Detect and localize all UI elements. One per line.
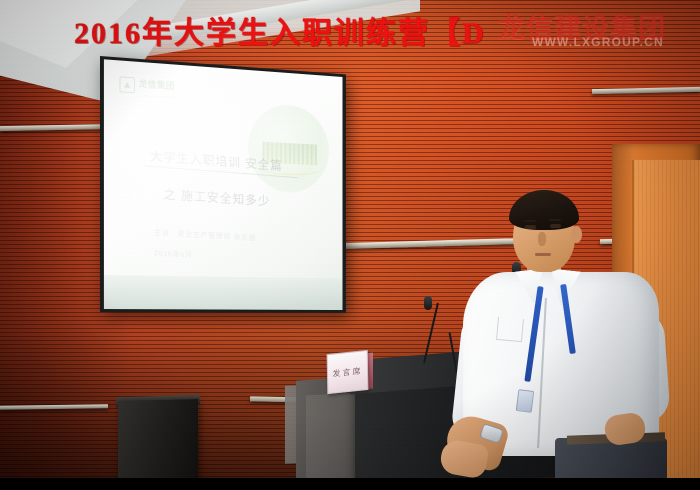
person-id-badge bbox=[516, 389, 535, 413]
microphone-head-icon bbox=[424, 296, 432, 310]
person-shirt-pocket bbox=[496, 317, 524, 342]
person-eyebrow-left bbox=[524, 220, 536, 222]
person-ear bbox=[571, 226, 582, 243]
projection-screen: 龙信集团 LONGXIN GROUP 大学生入职培训 安全篇 之 施工安全知多少… bbox=[100, 56, 346, 313]
person-trousers bbox=[555, 438, 667, 482]
slide-logo: 龙信集团 LONGXIN GROUP bbox=[119, 72, 175, 99]
slide-footnote-line-1: 主讲：安全生产管理部 张志强 bbox=[154, 227, 256, 243]
photo-screenshot: 龙信集团 LONGXIN GROUP 大学生入职培训 安全篇 之 施工安全知多少… bbox=[0, 0, 700, 490]
slide-logo-text: 龙信集团 bbox=[139, 79, 175, 91]
podium-name-card: 发言席 bbox=[327, 350, 369, 394]
slide-logo-subtext: LONGXIN GROUP bbox=[139, 93, 176, 100]
slide-green-orb-graphic bbox=[248, 103, 329, 194]
person-eye-left bbox=[525, 225, 536, 229]
person-eye-right bbox=[550, 224, 561, 228]
podium-name-card-text: 发言席 bbox=[332, 365, 362, 379]
person-eyebrow-right bbox=[549, 219, 561, 221]
projection-screen-surface: 龙信集团 LONGXIN GROUP 大学生入职培训 安全篇 之 施工安全知多少… bbox=[104, 59, 343, 310]
person-nose bbox=[538, 232, 546, 246]
person-hair bbox=[509, 190, 579, 230]
speaker-person bbox=[455, 190, 665, 482]
slide-logo-mark-icon bbox=[119, 76, 134, 93]
slide-heading-line-2: 之 施工安全知多少 bbox=[163, 184, 270, 209]
slide-bottom-band bbox=[104, 275, 343, 310]
loudspeaker-box bbox=[118, 399, 198, 481]
person-mouth bbox=[535, 253, 551, 256]
photo-bottom-letterbox bbox=[0, 478, 700, 490]
slide-footnote-line-2: 2016年6月 bbox=[154, 248, 193, 261]
